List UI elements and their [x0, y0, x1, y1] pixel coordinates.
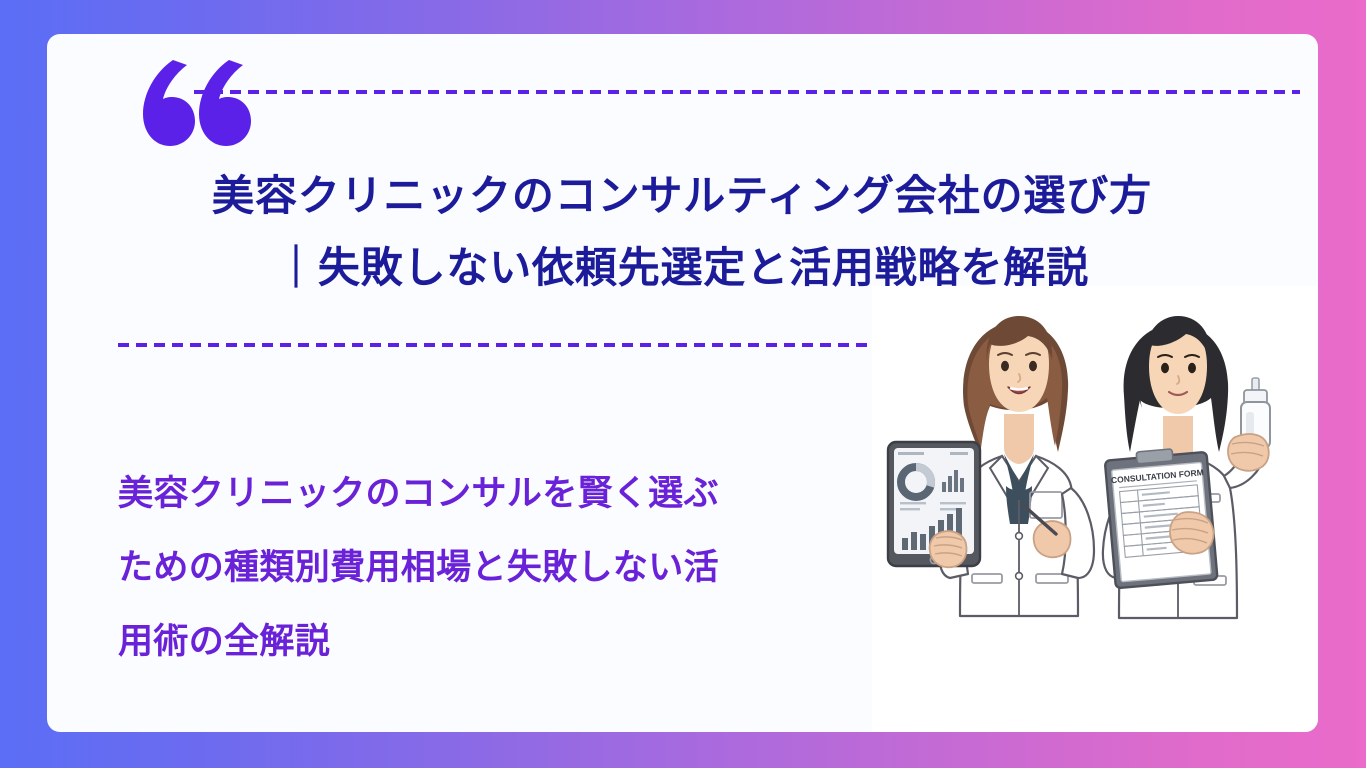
divider-top	[194, 90, 1300, 94]
page-description: 美容クリニックのコンサルを賢く選ぶ ための種類別費用相場と失敗しない活 用術の全…	[118, 457, 863, 679]
quote-open-icon	[139, 56, 251, 152]
doctors-illustration: CONSULTATION FORM	[872, 286, 1318, 732]
page-title: 美容クリニックのコンサルティング会社の選び方 ｜失敗しない依頼先選定と活用戦略を…	[77, 160, 1287, 304]
content-card: 美容クリニックのコンサルティング会社の選び方 ｜失敗しない依頼先選定と活用戦略を…	[47, 34, 1318, 732]
poster-canvas: 美容クリニックのコンサルティング会社の選び方 ｜失敗しない依頼先選定と活用戦略を…	[0, 0, 1366, 768]
